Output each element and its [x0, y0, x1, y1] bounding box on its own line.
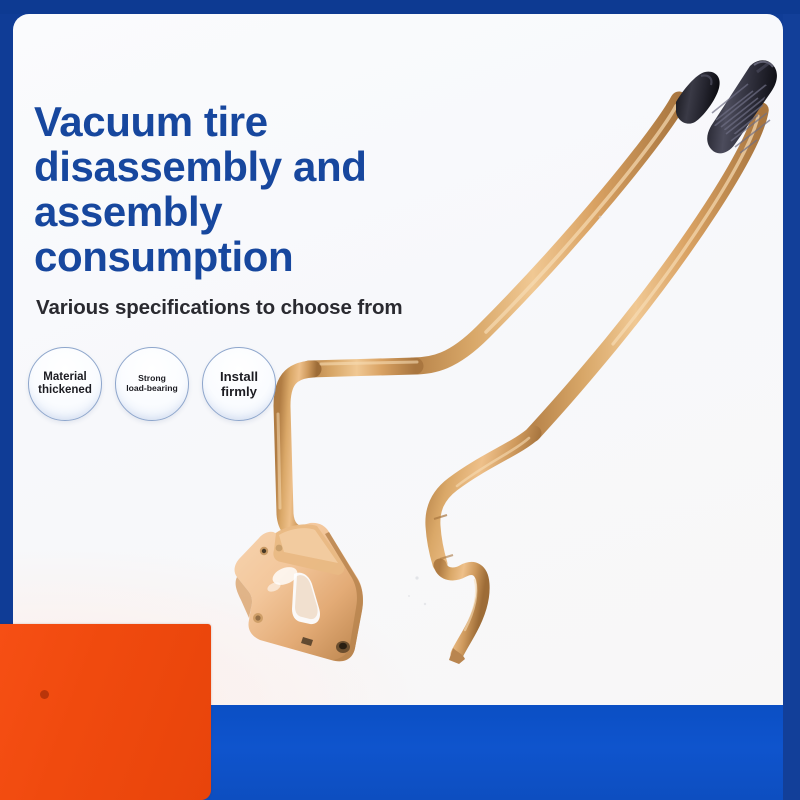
orange-product-panel [0, 624, 211, 800]
feature-badge-label: Install firmly [216, 369, 262, 399]
feature-badge-group: Material thickened Strong load-bearing I… [28, 347, 276, 421]
frame-border-top [0, 0, 800, 14]
feature-badge-label: Material thickened [34, 371, 96, 397]
feature-badge-install-firmly[interactable]: Install firmly [202, 347, 276, 421]
feature-badge-material-thickened[interactable]: Material thickened [28, 347, 102, 421]
page-subtitle: Various specifications to choose from [36, 296, 403, 320]
frame-border-right [783, 0, 800, 800]
feature-badge-strong-load-bearing[interactable]: Strong load-bearing [115, 347, 189, 421]
feature-badge-label: Strong load-bearing [122, 374, 182, 394]
poster-root: Vacuum tire disassembly and assembly con… [0, 0, 800, 800]
page-title: Vacuum tire disassembly and assembly con… [34, 100, 454, 280]
